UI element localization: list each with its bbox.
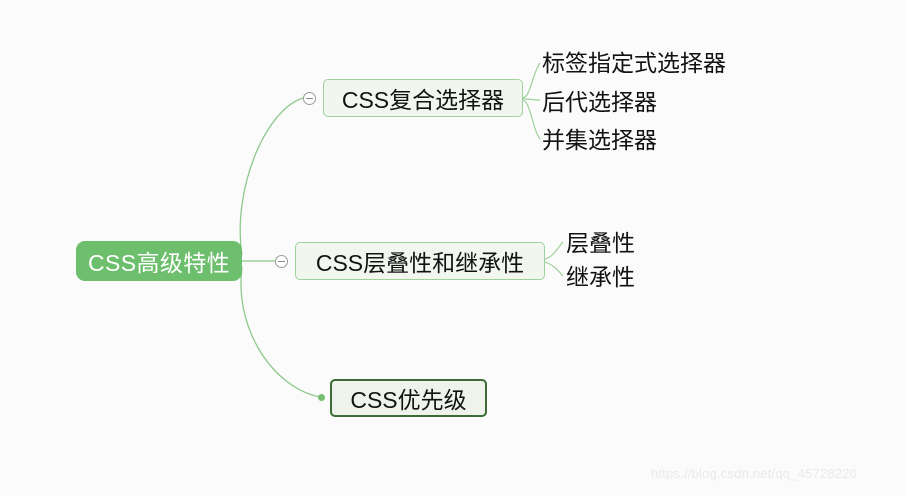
watermark: https://blog.csdn.net/qq_45728220 (651, 466, 857, 481)
branch-node-composite-selector-label: CSS复合选择器 (342, 81, 504, 115)
leaf-node-cascade-label: 层叠性 (566, 230, 635, 256)
root-node[interactable]: CSS高级特性 (76, 241, 242, 281)
edge-cascade-to-inherit-leaf (545, 262, 563, 276)
edge-root-to-composite (240, 98, 303, 255)
leaf-node-descendant-selector[interactable]: 后代选择器 (542, 91, 657, 114)
edge-composite-to-union (523, 100, 540, 139)
leaf-node-union-selector-label: 并集选择器 (542, 127, 657, 153)
leaf-node-tag-specified-selector-label: 标签指定式选择器 (542, 50, 726, 76)
minus-circle-icon-composite-selector[interactable] (303, 92, 316, 105)
leaf-node-tag-specified-selector[interactable]: 标签指定式选择器 (542, 52, 726, 75)
root-node-label: CSS高级特性 (88, 244, 230, 278)
branch-node-cascade-inheritance[interactable]: CSS层叠性和继承性 (295, 242, 545, 280)
leaf-node-cascade[interactable]: 层叠性 (566, 232, 635, 255)
edge-composite-to-tag (523, 63, 540, 98)
leaf-node-inheritance[interactable]: 继承性 (566, 266, 635, 289)
leaf-node-union-selector[interactable]: 并集选择器 (542, 129, 657, 152)
branch-node-cascade-inheritance-label: CSS层叠性和继承性 (316, 244, 524, 278)
branch-node-priority[interactable]: CSS优先级 (330, 379, 487, 417)
mindmap-canvas[interactable]: CSS高级特性 CSS复合选择器 标签指定式选择器 后代选择器 并集选择器 CS… (0, 0, 905, 496)
edge-composite-to-desc (523, 99, 540, 100)
leaf-node-inheritance-label: 继承性 (566, 264, 635, 290)
leaf-node-descendant-selector-label: 后代选择器 (542, 89, 657, 115)
minus-circle-icon-cascade-inheritance[interactable] (275, 255, 288, 268)
branch-node-priority-label: CSS优先级 (350, 381, 466, 415)
dot-icon-priority[interactable] (318, 394, 325, 401)
edge-cascade-to-cascade-leaf (545, 242, 563, 259)
edge-root-to-priority (241, 267, 320, 397)
branch-node-composite-selector[interactable]: CSS复合选择器 (323, 79, 523, 117)
